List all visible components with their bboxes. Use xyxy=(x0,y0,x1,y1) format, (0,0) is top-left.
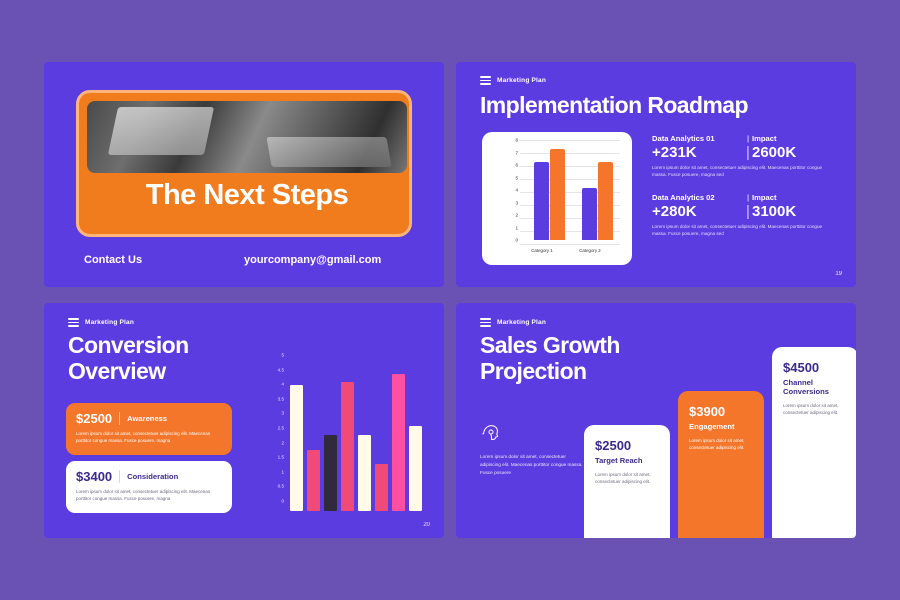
card-label: Consideration xyxy=(127,472,178,481)
bar-3 xyxy=(324,435,337,511)
grid-line xyxy=(520,244,620,245)
presentation-preview: The Next Steps Contact Us yourcompany@gm… xyxy=(0,0,900,600)
bar-cat1-series-a xyxy=(534,162,549,240)
conversion-card-consideration[interactable]: $3400 Consideration Lorem ipsum dolor si… xyxy=(66,461,232,513)
slide4-desc: Lorem ipsum dolor sit amet, consectetuer… xyxy=(480,453,584,477)
conversion-bar-chart: 5 4.5 4 3.5 3 2.5 2 1.5 1 0.5 0 xyxy=(272,355,432,511)
stat-row: Data Analytics 01 | Impact +231K | 2600K… xyxy=(652,134,842,179)
slide3-header: Marketing Plan xyxy=(68,316,134,329)
y-tick: 1.5 xyxy=(278,455,284,460)
menu-icon xyxy=(480,74,491,87)
slide3-header-label: Marketing Plan xyxy=(85,319,134,326)
stat-value: +280K xyxy=(652,203,744,220)
y-axis-ticks: 8 7 6 5 4 3 2 1 0 xyxy=(508,140,518,240)
y-tick: 4 xyxy=(281,382,284,387)
projection-column-engagement[interactable]: $3900 Engagement Lorem ipsum dolor sit a… xyxy=(678,391,764,538)
projection-column-target-reach[interactable]: $2500 Target Reach Lorem ipsum dolor sit… xyxy=(584,425,670,538)
contact-email[interactable]: yourcompany@gmail.com xyxy=(244,254,381,266)
stat-desc: Lorem ipsum dolor sit amet, consectetuer… xyxy=(652,165,828,179)
slide4-header-label: Marketing Plan xyxy=(497,319,546,326)
projection-column-channel-conversions[interactable]: $4500 Channel Conversions Lorem ipsum do… xyxy=(772,347,856,538)
card-label: Awareness xyxy=(127,414,167,423)
y-tick: 5 xyxy=(515,175,518,180)
column-desc: Lorem ipsum dolor sit amet, consectetuer… xyxy=(689,437,753,451)
card-desc: Lorem ipsum dolor sit amet, consectetuer… xyxy=(76,431,222,445)
bar-cat2-series-b xyxy=(598,162,613,240)
y-tick: 8 xyxy=(515,138,518,143)
column-amount: $4500 xyxy=(783,360,847,375)
y-tick: 6 xyxy=(515,163,518,168)
card-amount: $2500 xyxy=(76,411,112,426)
column-label: Engagement xyxy=(689,422,753,431)
slide2-header: Marketing Plan xyxy=(480,74,546,87)
roadmap-chart-card: 8 7 6 5 4 3 2 1 0 xyxy=(482,132,632,265)
bar-5 xyxy=(358,435,371,511)
slide-conversion-overview[interactable]: Marketing Plan Conversion Overview $2500… xyxy=(44,303,444,538)
stat-metric-label: Impact xyxy=(752,134,776,143)
divider xyxy=(119,470,120,483)
bar-6 xyxy=(375,464,388,511)
y-tick: 1 xyxy=(515,225,518,230)
slide4-page-number: 18 xyxy=(835,522,842,528)
y-tick: 7 xyxy=(515,150,518,155)
grid-line xyxy=(520,153,620,154)
slide1-title: The Next Steps xyxy=(79,179,415,212)
slide2-header-label: Marketing Plan xyxy=(497,77,546,84)
menu-icon xyxy=(480,316,491,329)
slide4-title-line2: Projection xyxy=(480,359,620,385)
roadmap-bar-chart: 8 7 6 5 4 3 2 1 0 xyxy=(508,140,620,244)
y-tick: 1 xyxy=(281,469,284,474)
bar-cat1-series-b xyxy=(550,149,565,240)
divider: | xyxy=(744,193,752,202)
slide3-title: Conversion Overview xyxy=(68,333,189,385)
y-tick: 2.5 xyxy=(278,426,284,431)
column-desc: Lorem ipsum dolor sit amet, consectetuer… xyxy=(783,402,847,416)
column-amount: $3900 xyxy=(689,404,753,419)
menu-icon xyxy=(68,316,79,329)
y-tick: 3 xyxy=(281,411,284,416)
y-axis-ticks: 5 4.5 4 3.5 3 2.5 2 1.5 1 0.5 0 xyxy=(272,355,286,501)
bar-4 xyxy=(341,382,354,511)
bar-1 xyxy=(290,385,303,511)
divider: | xyxy=(744,144,752,161)
divider xyxy=(119,412,120,425)
y-tick: 0.5 xyxy=(278,484,284,489)
stat-metric-value: 2600K xyxy=(752,144,796,161)
y-tick: 5 xyxy=(281,353,284,358)
slide2-page-number: 19 xyxy=(835,271,842,277)
roadmap-stats: Data Analytics 01 | Impact +231K | 2600K… xyxy=(652,134,842,252)
head-idea-icon xyxy=(480,421,502,443)
y-tick: 3.5 xyxy=(278,396,284,401)
x-tick-label: Category 2 xyxy=(567,248,613,253)
card-amount: $3400 xyxy=(76,469,112,484)
column-label: Channel Conversions xyxy=(783,378,847,396)
slide-next-steps[interactable]: The Next Steps Contact Us yourcompany@gm… xyxy=(44,62,444,287)
y-tick: 4.5 xyxy=(278,367,284,372)
y-tick: 3 xyxy=(515,200,518,205)
slide-implementation-roadmap[interactable]: Marketing Plan Implementation Roadmap 8 … xyxy=(456,62,856,287)
contact-label: Contact Us xyxy=(84,254,142,266)
slide3-title-line2: Overview xyxy=(68,359,189,385)
bar-cat2-series-a xyxy=(582,188,597,240)
bar-2 xyxy=(307,450,320,511)
slide4-header: Marketing Plan xyxy=(480,316,546,329)
y-tick: 4 xyxy=(515,188,518,193)
stat-row: Data Analytics 02 | Impact +280K | 3100K… xyxy=(652,193,842,238)
slide3-title-line1: Conversion xyxy=(68,333,189,359)
card-desc: Lorem ipsum dolor sit amet, consectetuer… xyxy=(76,489,222,503)
stat-label: Data Analytics 02 xyxy=(652,193,744,202)
grid-line xyxy=(520,140,620,141)
y-tick: 2 xyxy=(515,213,518,218)
column-label: Target Reach xyxy=(595,456,659,465)
stat-metric-label: Impact xyxy=(752,193,776,202)
bar-8 xyxy=(409,426,422,511)
stat-metric-value: 3100K xyxy=(752,203,796,220)
slide2-title: Implementation Roadmap xyxy=(480,92,748,119)
x-tick-label: Category 1 xyxy=(519,248,565,253)
slide4-title-line1: Sales Growth xyxy=(480,333,620,359)
slide-sales-growth-projection[interactable]: Marketing Plan Sales Growth Projection L… xyxy=(456,303,856,538)
stat-desc: Lorem ipsum dolor sit amet, consectetuer… xyxy=(652,224,828,238)
bar-7 xyxy=(392,374,405,511)
y-tick: 2 xyxy=(281,440,284,445)
conversion-card-awareness[interactable]: $2500 Awareness Lorem ipsum dolor sit am… xyxy=(66,403,232,455)
column-desc: Lorem ipsum dolor sit amet, consectetuer… xyxy=(595,471,659,485)
slide4-title: Sales Growth Projection xyxy=(480,333,620,385)
stat-label: Data Analytics 01 xyxy=(652,134,744,143)
bars-group xyxy=(290,365,432,511)
y-tick: 0 xyxy=(515,238,518,243)
stat-value: +231K xyxy=(652,144,744,161)
hero-photo xyxy=(87,101,407,173)
column-amount: $2500 xyxy=(595,438,659,453)
y-tick: 0 xyxy=(281,499,284,504)
slide3-page-number: 20 xyxy=(423,522,430,528)
divider: | xyxy=(744,203,752,220)
divider: | xyxy=(744,134,752,143)
title-frame: The Next Steps xyxy=(76,90,412,237)
